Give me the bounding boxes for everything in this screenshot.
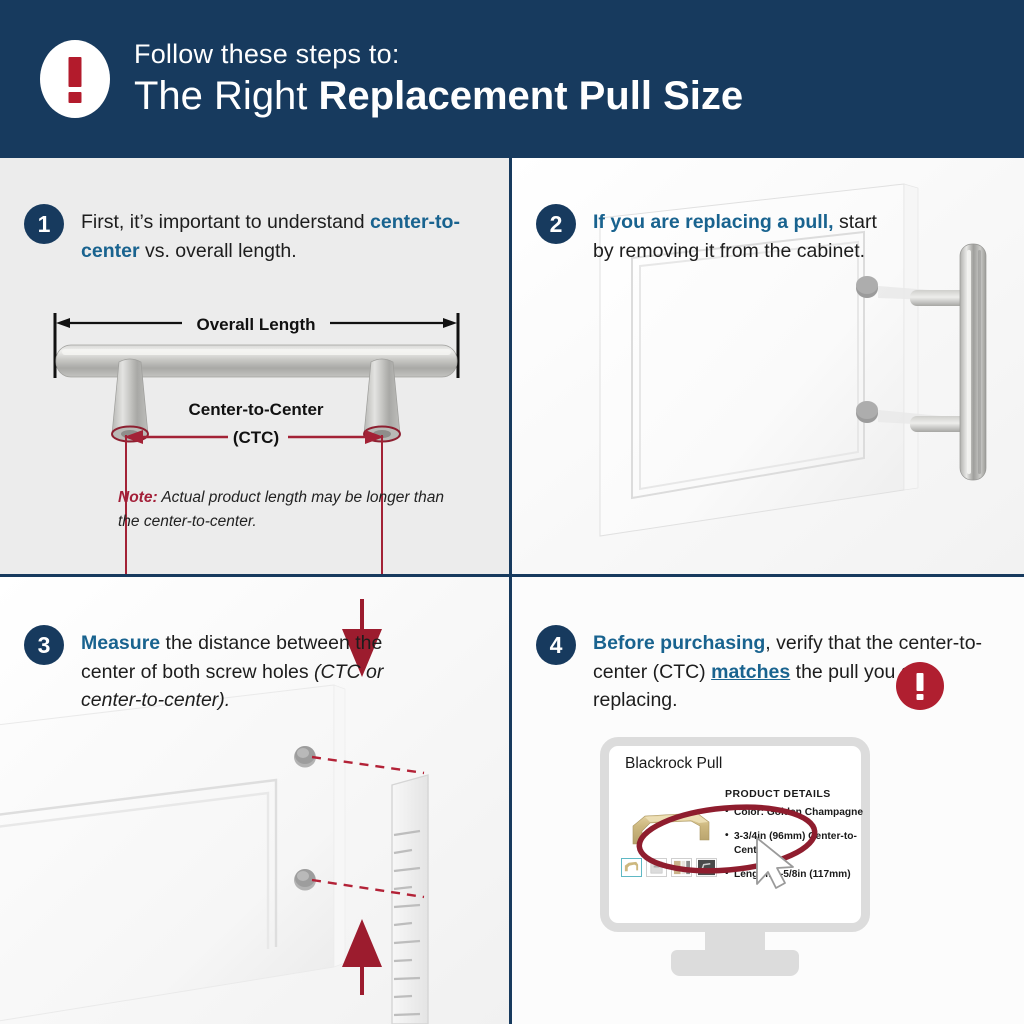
ctc-label-line1: Center-to-Center bbox=[188, 400, 323, 419]
swatch-thumbnail-4[interactable] bbox=[696, 858, 717, 877]
page-title-bold: Replacement Pull Size bbox=[319, 74, 744, 118]
infographic-page: Follow these steps to: The Right Replace… bbox=[0, 0, 1024, 1024]
product-detail-item-color: Color: Golden Champagne bbox=[725, 806, 875, 819]
step-4-text-accent: Before purchasing bbox=[593, 632, 765, 654]
product-details-list: Color: Golden Champagne 3-3/4in (96mm) C… bbox=[725, 806, 875, 892]
vertical-divider bbox=[509, 158, 512, 1024]
product-detail-item-length: Length: 4-5/8in (117mm) bbox=[725, 868, 875, 881]
step-1-header: 1 First, it’s important to understand ce… bbox=[24, 204, 464, 265]
exclamation-circle-icon bbox=[40, 40, 110, 118]
monitor-screen: Blackrock Pull bbox=[600, 737, 870, 932]
step-1-text-part-a: First, it’s important to understand bbox=[81, 211, 370, 233]
ctc-label-line2: (CTC) bbox=[233, 428, 279, 447]
step-1-text: First, it’s important to understand cent… bbox=[81, 204, 464, 265]
product-image-blackrock-pull bbox=[625, 800, 717, 852]
header-text-block: Follow these steps to: The Right Replace… bbox=[134, 39, 743, 119]
note-label: Note: bbox=[118, 489, 158, 506]
step-3-header: 3 Measure the distance between the cente… bbox=[24, 625, 464, 715]
alert-exclamation-icon bbox=[896, 662, 944, 710]
step-4-text-matches-link[interactable]: matches bbox=[711, 661, 790, 683]
monitor-base bbox=[671, 950, 799, 976]
horizontal-divider bbox=[0, 574, 1024, 577]
step-number-badge-2: 2 bbox=[536, 204, 576, 244]
step-3-text: Measure the distance between the center … bbox=[81, 625, 411, 715]
swatch-thumbnail-2[interactable] bbox=[646, 858, 667, 877]
step-2-text-accent: If you are replacing a pull, bbox=[593, 211, 834, 233]
step-3-text-accent: Measure bbox=[81, 632, 160, 654]
step-panel-4: 4 Before purchasing, verify that the cen… bbox=[512, 577, 1024, 1024]
step-number-badge-1: 1 bbox=[24, 204, 64, 244]
swatch-thumbnail-3[interactable] bbox=[671, 858, 692, 877]
product-detail-item-ctc: 3-3/4in (96mm) Center-to-Center bbox=[725, 830, 875, 857]
step-number-badge-3: 3 bbox=[24, 625, 64, 665]
step-1-note: Note: Actual product length may be longe… bbox=[118, 486, 468, 534]
page-title: The Right Replacement Pull Size bbox=[134, 74, 743, 119]
page-header: Follow these steps to: The Right Replace… bbox=[0, 0, 1024, 158]
monitor-neck bbox=[705, 932, 765, 950]
step-panel-2: 2 If you are replacing a pull, start by … bbox=[512, 158, 1024, 574]
step-2-text: If you are replacing a pull, start by re… bbox=[593, 204, 893, 265]
step-2-header: 2 If you are replacing a pull, start by … bbox=[536, 204, 966, 265]
step-1-text-part-b: vs. overall length. bbox=[140, 240, 297, 262]
note-text: Actual product length may be longer than… bbox=[118, 489, 444, 530]
product-title: Blackrock Pull bbox=[625, 755, 722, 773]
product-thumbnail-swatches[interactable] bbox=[621, 858, 717, 877]
step-number-badge-4: 4 bbox=[536, 625, 576, 665]
header-eyebrow: Follow these steps to: bbox=[134, 39, 743, 70]
step-panel-3: 3 Measure the distance between the cente… bbox=[0, 577, 509, 1024]
product-details-heading: PRODUCT DETAILS bbox=[725, 788, 831, 800]
page-title-light: The Right bbox=[134, 74, 319, 118]
swatch-thumbnail-1[interactable] bbox=[621, 858, 642, 877]
overall-length-label: Overall Length bbox=[196, 315, 315, 334]
product-listing-monitor: Blackrock Pull bbox=[600, 737, 870, 976]
step-panel-1: 1 First, it’s important to understand ce… bbox=[0, 158, 509, 574]
